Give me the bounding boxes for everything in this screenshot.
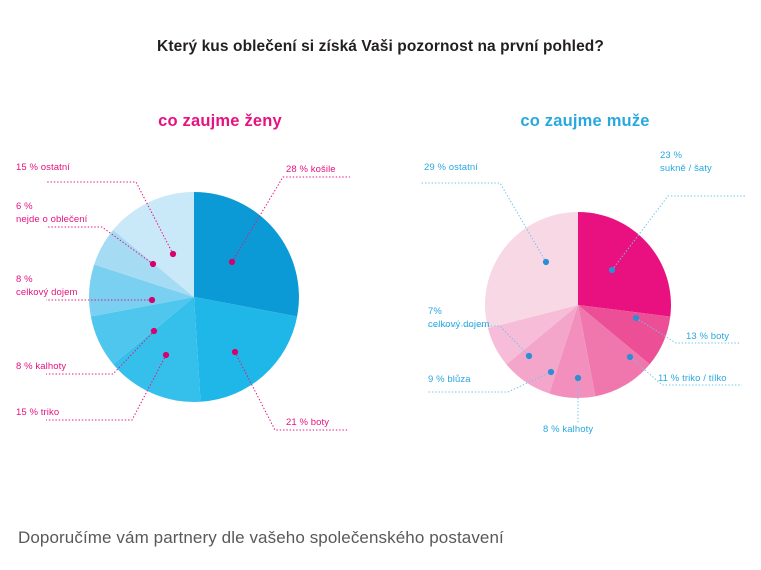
leader-nejde — [46, 227, 153, 264]
slice-ostatni — [485, 212, 578, 328]
slice-triko-tilko — [578, 305, 650, 396]
leader-lines-men — [420, 183, 745, 424]
slice-ostatni — [113, 192, 194, 297]
label-women-ostatni: 15 % ostatní — [16, 162, 70, 175]
slice-nejde-o-obleceni — [94, 230, 194, 297]
leader-sukne — [612, 196, 745, 270]
dot-boty — [232, 349, 238, 355]
slice-boty — [578, 305, 670, 364]
dot-ostatni — [543, 259, 549, 265]
label-men-celkovy-dojem: 7% celkový dojem — [428, 306, 490, 331]
pie-chart-women — [89, 192, 299, 402]
panel-title-men: co zaujme muže — [425, 112, 745, 131]
label-men-sukne-saty: 23 % sukně / šaty — [660, 150, 712, 175]
leader-dots-women — [149, 251, 238, 358]
label-women-kalhoty: 8 % kalhoty — [16, 361, 66, 374]
dot-kalhoty — [151, 328, 157, 334]
dot-kalhoty — [575, 375, 581, 381]
slice-celkovy-dojem — [89, 265, 194, 317]
dot-boty — [633, 315, 639, 321]
label-men-ostatni: 29 % ostatní — [424, 162, 478, 175]
dot-sukne — [609, 267, 615, 273]
label-men-bluza: 9 % blůza — [428, 374, 471, 387]
dot-nejde — [150, 261, 156, 267]
infographic-canvas: Který kus oblečení si získá Vaši pozorno… — [0, 0, 761, 570]
dot-celkovy — [526, 353, 532, 359]
slice-kosile — [194, 192, 299, 316]
slice-triko — [113, 297, 200, 402]
pie-charts-graphic — [0, 0, 761, 570]
page-title: Který kus oblečení si získá Vaši pozorno… — [0, 38, 761, 56]
label-women-triko: 15 % triko — [16, 407, 59, 420]
label-men-boty: 13 % boty — [686, 331, 729, 344]
leader-kosile — [232, 177, 350, 262]
label-women-celkovy-dojem: 8 % celkový dojem — [16, 274, 78, 299]
label-men-triko-tilko: 11 % triko / tílko — [658, 373, 727, 386]
slice-kalhoty — [549, 305, 595, 398]
label-women-kosile: 28 % košile — [286, 164, 336, 177]
slice-boty — [194, 297, 297, 402]
dot-kosile — [229, 259, 235, 265]
dot-triko — [627, 354, 633, 360]
slice-kalhoty — [91, 297, 194, 364]
slice-bluza — [506, 305, 578, 393]
leader-dots-men — [526, 259, 639, 381]
dot-triko — [163, 352, 169, 358]
label-women-boty: 21 % boty — [286, 417, 329, 430]
leader-ostatni — [420, 183, 546, 262]
dot-bluza — [548, 369, 554, 375]
panel-title-women: co zaujme ženy — [60, 112, 380, 131]
pie-chart-men — [485, 212, 671, 398]
label-women-nejde-o-obleceni: 6 % nejde o oblečení — [16, 201, 87, 226]
footer-caption: Doporučíme vám partnery dle vašeho spole… — [18, 528, 504, 548]
slice-celkovy-dojem — [488, 305, 578, 364]
dot-ostatni — [170, 251, 176, 257]
dot-celkovy — [149, 297, 155, 303]
slice-sukne-saty — [578, 212, 671, 317]
label-men-kalhoty: 8 % kalhoty — [543, 424, 593, 437]
leader-lines-women — [46, 177, 350, 430]
